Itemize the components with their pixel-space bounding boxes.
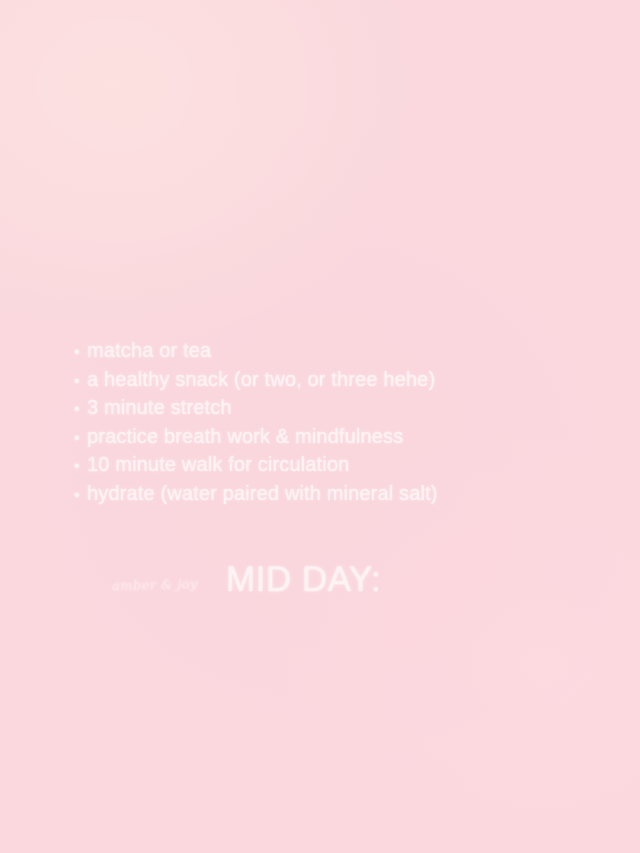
bullet-icon: • [74,339,87,368]
bullet-icon: • [74,368,87,397]
list-item-label: a healthy snack (or two, or three hehe) [87,366,435,395]
list-item-label: 10 minute walk for circulation [87,451,349,480]
list-item-label: matcha or tea [87,337,211,366]
bullet-icon: • [74,425,87,454]
routine-list: • matcha or tea • a healthy snack (or tw… [74,337,614,509]
list-item: • a healthy snack (or two, or three hehe… [74,366,614,395]
bullet-icon: • [74,453,87,482]
bullet-icon: • [74,482,87,511]
list-item: • practice breath work & mindfulness [74,423,614,452]
list-item: • matcha or tea [74,337,614,366]
list-item-label: 3 minute stretch [87,394,232,423]
list-item: • 3 minute stretch [74,394,614,423]
title-row: amber & joy MID DAY: [0,279,640,323]
list-item: • hydrate (water paired with mineral sal… [74,480,614,509]
list-item-label: practice breath work & mindfulness [87,423,403,452]
list-item: • 10 minute walk for circulation [74,451,614,480]
watermark-signature: amber & joy [112,574,223,599]
page-title: MID DAY: [226,558,381,602]
bullet-icon: • [74,396,87,425]
list-item-label: hydrate (water paired with mineral salt) [87,480,438,509]
poster-background: amber & joy MID DAY: • matcha or tea • a… [0,0,640,853]
